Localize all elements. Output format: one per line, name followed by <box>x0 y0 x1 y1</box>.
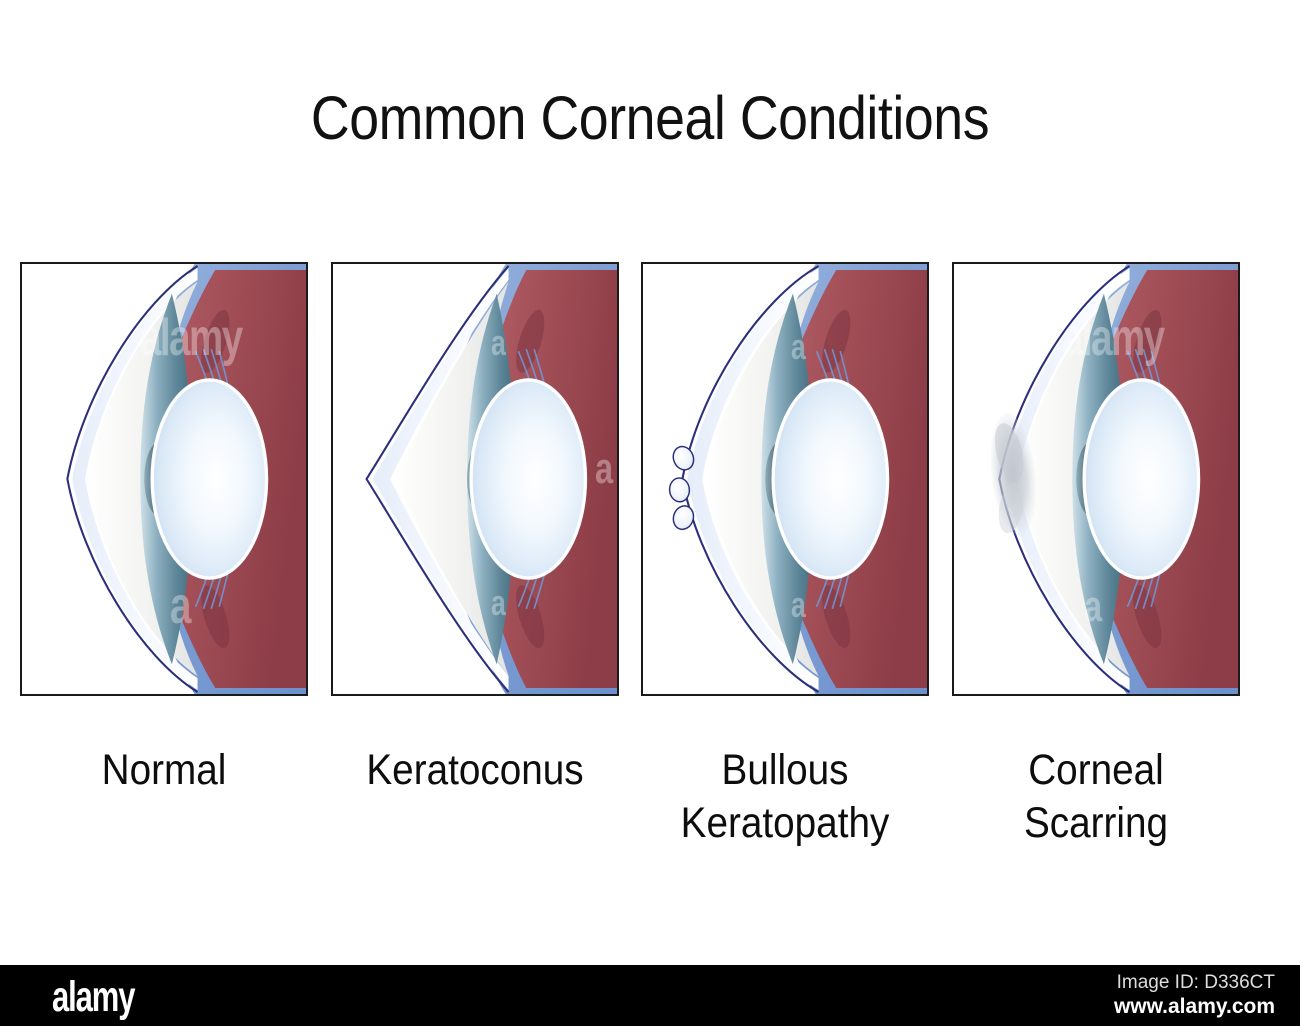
caption-line-2: Scarring <box>966 797 1225 850</box>
image-id-label: Image ID: D336CT <box>855 970 1275 995</box>
caption-line-2: Keratopathy <box>655 797 914 850</box>
panel-corneal-scarring: alamy a <box>952 262 1240 696</box>
caption-row: Normal Keratoconus Bullous Keratopathy C… <box>20 744 1265 874</box>
alamy-logo[interactable]: alamy <box>52 975 134 1019</box>
eye-cross-section-bullous-keratopathy <box>643 264 927 694</box>
diagram-panel-row: alamy a <box>20 262 1265 696</box>
caption-keratoconus: Keratoconus <box>345 744 604 797</box>
page-title: Common Corneal Conditions <box>78 83 1222 153</box>
eye-cross-section-normal <box>22 264 306 694</box>
caption-line-1: Keratoconus <box>366 746 583 794</box>
eye-cross-section-keratoconus <box>333 264 617 694</box>
panel-normal: alamy a <box>20 262 308 696</box>
panel-keratoconus: a a a <box>331 262 619 696</box>
caption-line-1: Normal <box>102 746 227 794</box>
alamy-url[interactable]: www.alamy.com <box>855 994 1275 1020</box>
caption-corneal-scarring: Corneal Scarring <box>966 744 1225 850</box>
panel-bullous-keratopathy: a a <box>641 262 929 696</box>
caption-normal: Normal <box>34 744 293 797</box>
eye-cross-section-corneal-scarring <box>954 264 1238 694</box>
caption-line-1: Corneal <box>1028 746 1164 794</box>
caption-line-1: Bullous <box>722 746 849 794</box>
caption-bullous-keratopathy: Bullous Keratopathy <box>655 744 914 850</box>
alamy-footer-bar: alamy Image ID: D336CT www.alamy.com <box>0 965 1300 1026</box>
